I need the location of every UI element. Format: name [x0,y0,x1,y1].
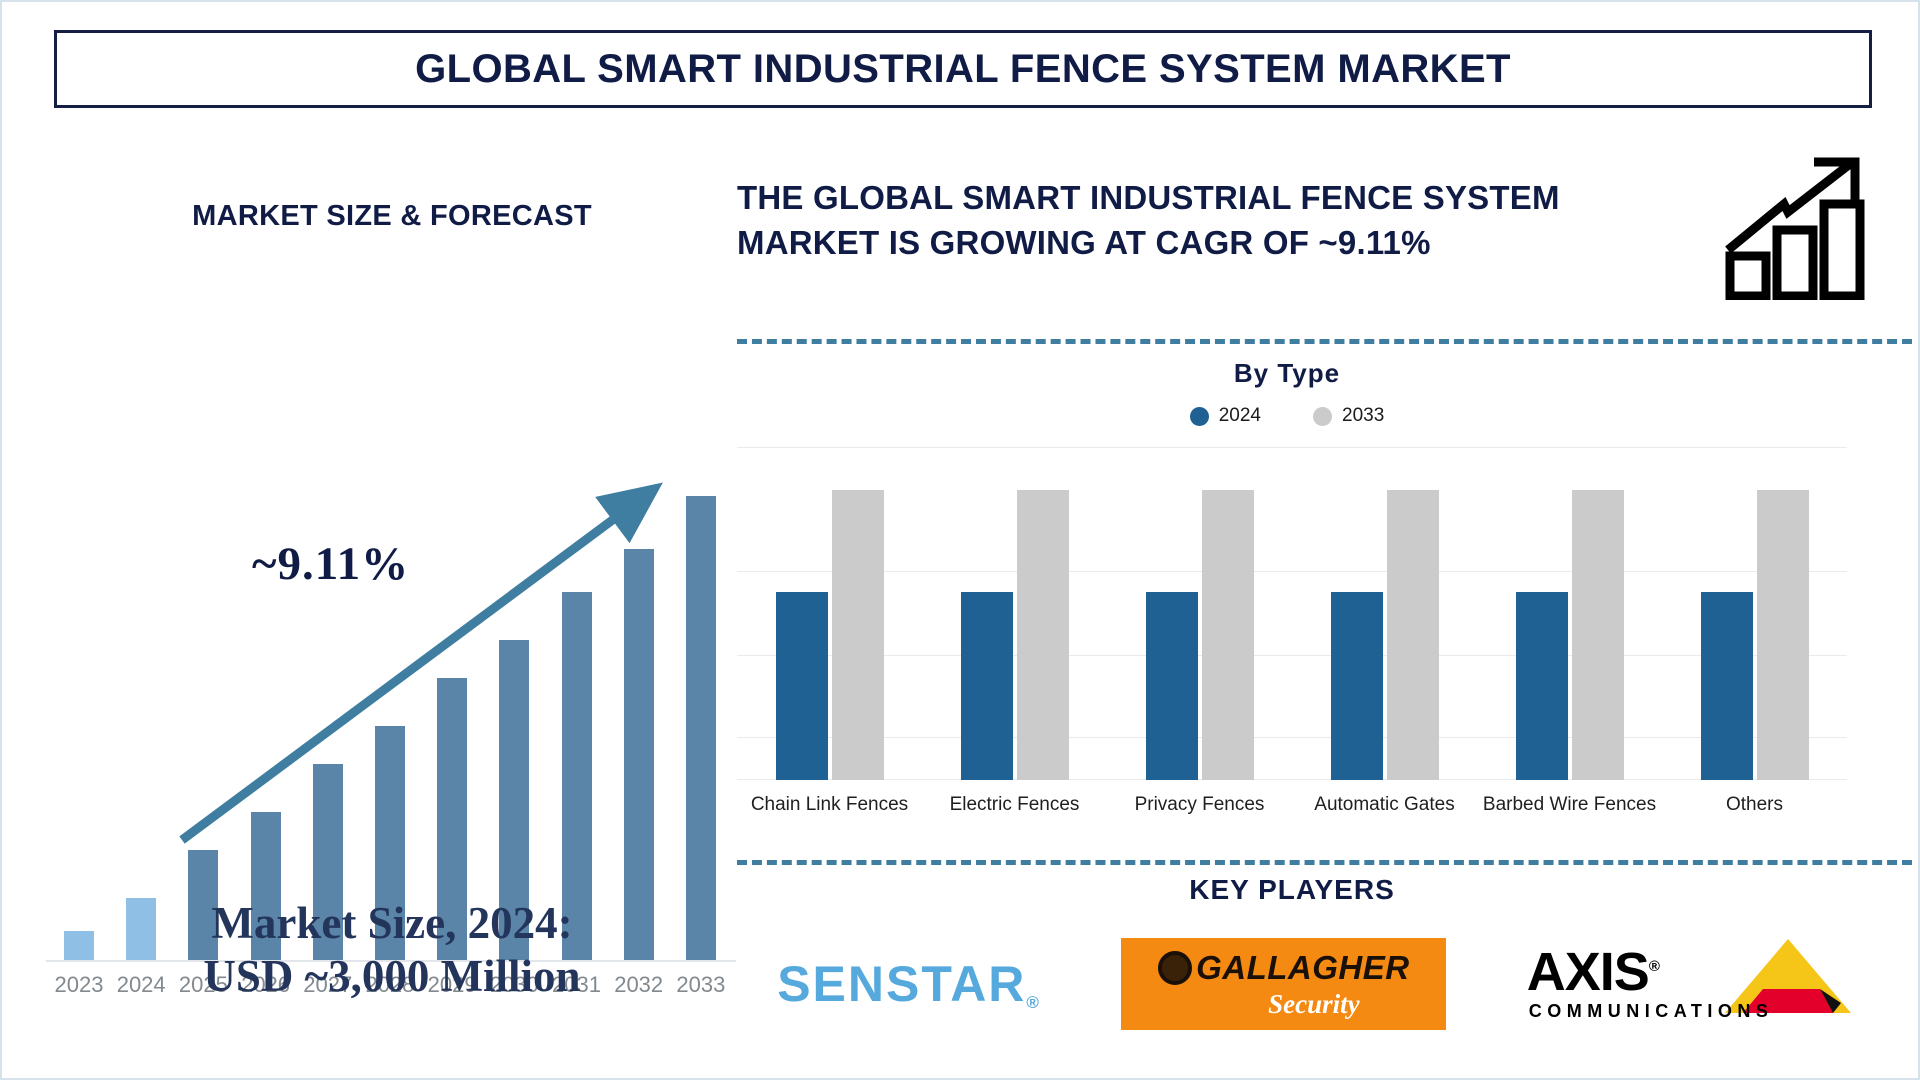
bar-group-privacy-fences [1146,490,1254,780]
bar-2033 [1017,490,1069,780]
by-type-bars-container [737,490,1847,780]
bar-2024 [1516,592,1568,781]
bar-group-electric-fences [961,490,1069,780]
title-banner: GLOBAL SMART INDUSTRIAL FENCE SYSTEM MAR… [54,30,1872,108]
category-label: Automatic Gates [1295,794,1475,816]
legend-item-2033: 2033 [1313,405,1384,427]
axis-wordmark: AXIS [1527,942,1649,1002]
bar-2033 [1757,490,1809,780]
bar-slot [112,482,170,960]
page-title: GLOBAL SMART INDUSTRIAL FENCE SYSTEM MAR… [415,47,1511,92]
bar-slot [361,482,419,960]
registered-mark-icon: ® [1649,958,1659,975]
bar-slot [423,482,481,960]
bar-slot [485,482,543,960]
bar-2024 [961,592,1013,781]
logo-axis-communications: AXIS® COMMUNICATIONS [1527,937,1857,1032]
bars-container [40,482,740,960]
divider-top [737,339,1912,344]
bar-slot [174,482,232,960]
divider-bottom [737,860,1912,865]
logo-gallagher: GALLAGHER Security [1121,938,1446,1030]
bar-group-others [1701,490,1809,780]
market-size-forecast-panel: MARKET SIZE & FORECAST ~9.11% 2023202420… [22,152,762,1052]
infographic-page: GLOBAL SMART INDUSTRIAL FENCE SYSTEM MAR… [0,0,1920,1080]
category-label: Barbed Wire Fences [1480,794,1660,816]
senstar-wordmark: SENSTAR [777,956,1026,1012]
legend-item-2024: 2024 [1190,405,1261,427]
legend-label: 2024 [1219,405,1261,427]
bar-2033 [686,496,716,960]
bar-slot [50,482,108,960]
gear-icon [1158,951,1192,985]
bar-2033 [832,490,884,780]
bar-group-automatic-gates [1331,490,1439,780]
market-size-forecast-heading: MARKET SIZE & FORECAST [22,200,762,233]
category-label: Chain Link Fences [740,794,920,816]
bar-2033 [1202,490,1254,780]
bar-2024 [1331,592,1383,781]
growth-chart-arrow-icon [1722,152,1872,300]
axis-subtitle: COMMUNICATIONS [1529,1001,1774,1022]
bar-slot [610,482,668,960]
bar-2024 [776,592,828,781]
gridline [737,447,1847,448]
bar-2033 [1572,490,1624,780]
bar-2024 [1701,592,1753,781]
bar-group-barbed-wire-fences [1516,490,1624,780]
legend-swatch-icon [1190,407,1209,426]
registered-mark-icon: ® [1026,993,1041,1012]
logo-senstar: SENSTAR® [777,955,1041,1013]
bar-slot [672,482,730,960]
market-size-line-2: USD ~3,000 Million [22,950,762,1003]
gallagher-wordmark: GALLAGHER [1196,949,1410,987]
bar-slot [299,482,357,960]
by-type-category-labels: Chain Link FencesElectric FencesPrivacy … [737,794,1847,816]
key-players-logos: SENSTAR® GALLAGHER Security AXIS® [737,924,1897,1044]
market-size-line-1: Market Size, 2024: [22,897,762,950]
cagr-headline: THE GLOBAL SMART INDUSTRIAL FENCE SYSTEM… [737,176,1677,265]
bar-2024 [1146,592,1198,781]
category-label: Privacy Fences [1110,794,1290,816]
legend-label: 2033 [1342,405,1384,427]
right-panel: THE GLOBAL SMART INDUSTRIAL FENCE SYSTEM… [737,152,1912,1057]
legend-swatch-icon [1313,407,1332,426]
market-size-value: Market Size, 2024: USD ~3,000 Million [22,897,762,1003]
key-players-title: KEY PLAYERS [737,874,1847,906]
by-type-legend: 20242033 [737,405,1837,427]
bar-2033 [1387,490,1439,780]
bar-slot [548,482,606,960]
category-label: Others [1665,794,1845,816]
gallagher-tagline: Security [1268,989,1360,1020]
category-label: Electric Fences [925,794,1105,816]
by-type-title: By Type [737,358,1837,389]
bar-group-chain-link-fences [776,490,884,780]
bar-slot [237,482,295,960]
by-type-bar-chart: Chain Link FencesElectric FencesPrivacy … [737,447,1847,822]
